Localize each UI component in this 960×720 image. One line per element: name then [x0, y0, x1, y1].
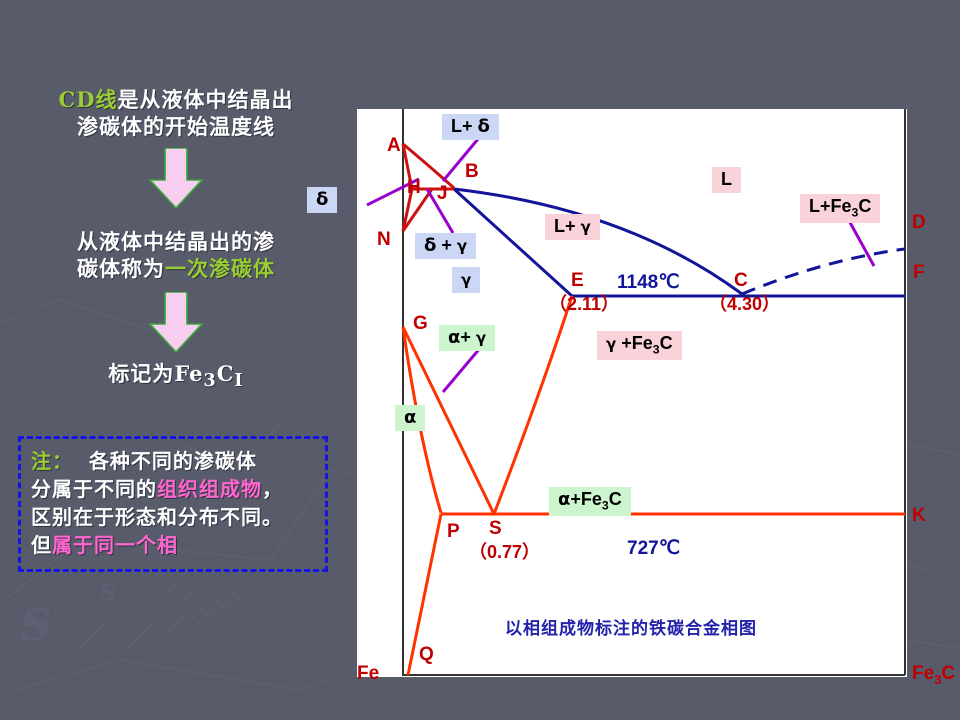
temperature-1148: 1148℃: [617, 271, 680, 294]
paragraph-cd-line: CD线是从液体中结晶出 渗碳体的开始温度线: [0, 86, 352, 140]
tag-text-l-plus-delta: L+ δ: [451, 116, 490, 136]
note-marker: 注：: [31, 449, 73, 473]
point-label-F: F: [913, 262, 925, 284]
primary-cementite-keyword: 一次渗碳体: [165, 256, 275, 281]
point-label-C: C: [734, 270, 748, 292]
para1-line2: 渗碳体的开始温度线: [0, 113, 352, 140]
point-label-P: P: [447, 521, 460, 543]
point-label-N: N: [377, 229, 391, 251]
phase-tag-gamma: γ: [452, 267, 480, 293]
cd-line-keyword: CD线: [59, 87, 118, 112]
tag-text-l-plus-fe3c: L+Fe3C: [809, 196, 871, 216]
note-line1: 注： 各种不同的渗碳体: [31, 447, 315, 475]
tag-text-l-plus-gamma: L+ γ: [554, 216, 591, 236]
diagram-caption: 以相组成物标注的铁碳合金相图: [505, 614, 757, 639]
liquidus-bc: [454, 189, 742, 294]
tag-text-alpha: α: [404, 407, 416, 428]
para1-line1: CD线是从液体中结晶出: [0, 86, 352, 113]
formula-c: C: [217, 361, 235, 386]
point-label-Q: Q: [419, 644, 434, 666]
tag-text-gamma: γ: [461, 271, 471, 289]
point-value-C: （4.30）: [709, 290, 780, 316]
down-arrow-1: [146, 148, 206, 215]
phase-tag-alpha-plus-gamma: α+ γ: [439, 325, 495, 351]
acm-line-es: [494, 296, 572, 514]
down-arrow-2: [146, 292, 206, 359]
point-label-E: E: [571, 270, 584, 292]
point-label-J: J: [437, 183, 448, 205]
point-label-G: G: [413, 313, 428, 335]
point-label-B: B: [465, 161, 479, 183]
note-line2-c: ，: [262, 477, 283, 501]
phase-tag-alpha: α: [395, 405, 425, 431]
formula-roman-one: I: [234, 371, 243, 391]
para2-line2-prefix: 碳体称为: [77, 256, 165, 281]
phase-tag-alpha-plus-fe3c: α+Fe3C: [549, 487, 631, 516]
structural-constituent-keyword: 组织组成物: [157, 477, 262, 501]
axis-fe3c-fe: Fe: [912, 663, 934, 684]
point-label-K: K: [912, 505, 926, 527]
phase-tag-l-plus-fe3c: L+Fe3C: [800, 194, 880, 223]
note-line4: 但属于同一个相: [31, 531, 315, 559]
axis-label-fe-left: Fe: [357, 663, 379, 685]
para3-prefix: 标记为: [108, 361, 174, 386]
tag-text-alpha-plus-fe3c: α+Fe3C: [558, 489, 622, 509]
note-line1-text: 各种不同的渗碳体: [89, 449, 257, 473]
phase-tag-l-plus-delta: L+ δ: [442, 114, 499, 140]
temperature-727: 727℃: [627, 537, 680, 560]
same-phase-keyword: 属于同一个相: [52, 533, 178, 557]
cd-liquidus-dashed: [742, 249, 905, 294]
left-text-column: CD线是从液体中结晶出 渗碳体的开始温度线 从液体中结晶出的渗 碳体称为一次渗碳…: [0, 70, 352, 690]
phase-tag-liquid: L: [712, 167, 741, 193]
tag-text-gamma-plus-fe3c: γ +Fe3C: [606, 333, 673, 353]
axis-fe3c-c: C: [941, 663, 955, 684]
leader-alpha-plus-gamma: [443, 347, 481, 392]
point-label-D: D: [912, 212, 926, 234]
phase-tag-delta: δ: [307, 187, 337, 213]
tag-text-delta: δ: [316, 189, 328, 210]
point-value-E: （2.11）: [549, 290, 619, 316]
phase-tag-l-plus-gamma: L+ γ: [545, 214, 600, 240]
note-line2-a: 分属于不同的: [31, 477, 157, 501]
paragraph-notation: 标记为Fe3CI: [0, 360, 352, 395]
point-value-S: （0.77）: [469, 538, 540, 564]
para1-line1-rest: 是从液体中结晶出: [117, 87, 293, 112]
para3-line: 标记为Fe3CI: [0, 360, 352, 395]
para2-line1: 从液体中结晶出的渗: [0, 228, 352, 255]
note-box: 注： 各种不同的渗碳体 分属于不同的组织组成物， 区别在于形态和分布不同。 但属…: [18, 436, 328, 572]
para2-line2: 碳体称为一次渗碳体: [0, 255, 352, 282]
point-label-A: A: [387, 135, 401, 157]
tag-text-alpha-plus-gamma: α+ γ: [448, 327, 486, 347]
phase-tag-gamma-plus-fe3c: γ +Fe3C: [597, 331, 682, 360]
tag-text-liquid: L: [721, 169, 732, 189]
note-line4-a: 但: [31, 533, 52, 557]
point-label-S: S: [489, 518, 502, 540]
formula-sub3: 3: [204, 371, 217, 391]
point-label-H: H: [407, 177, 421, 199]
axis-label-fe3c-right: Fe3C: [912, 663, 955, 687]
note-line2: 分属于不同的组织组成物，: [31, 475, 315, 503]
fe3c1-formula: Fe3CI: [174, 361, 243, 386]
paragraph-primary-cementite: 从液体中结晶出的渗 碳体称为一次渗碳体: [0, 228, 352, 282]
phase-diagram-panel: A B H J N E （2.11） C （4.30） G P S （0.77）…: [357, 109, 907, 677]
leader-l-plus-fe3c: [847, 217, 874, 266]
formula-fe: Fe: [174, 361, 203, 386]
phase-tag-delta-plus-gamma: δ + γ: [415, 233, 476, 259]
note-line3: 区别在于形态和分布不同。: [31, 503, 315, 531]
tag-text-delta-plus-gamma: δ + γ: [424, 235, 467, 255]
